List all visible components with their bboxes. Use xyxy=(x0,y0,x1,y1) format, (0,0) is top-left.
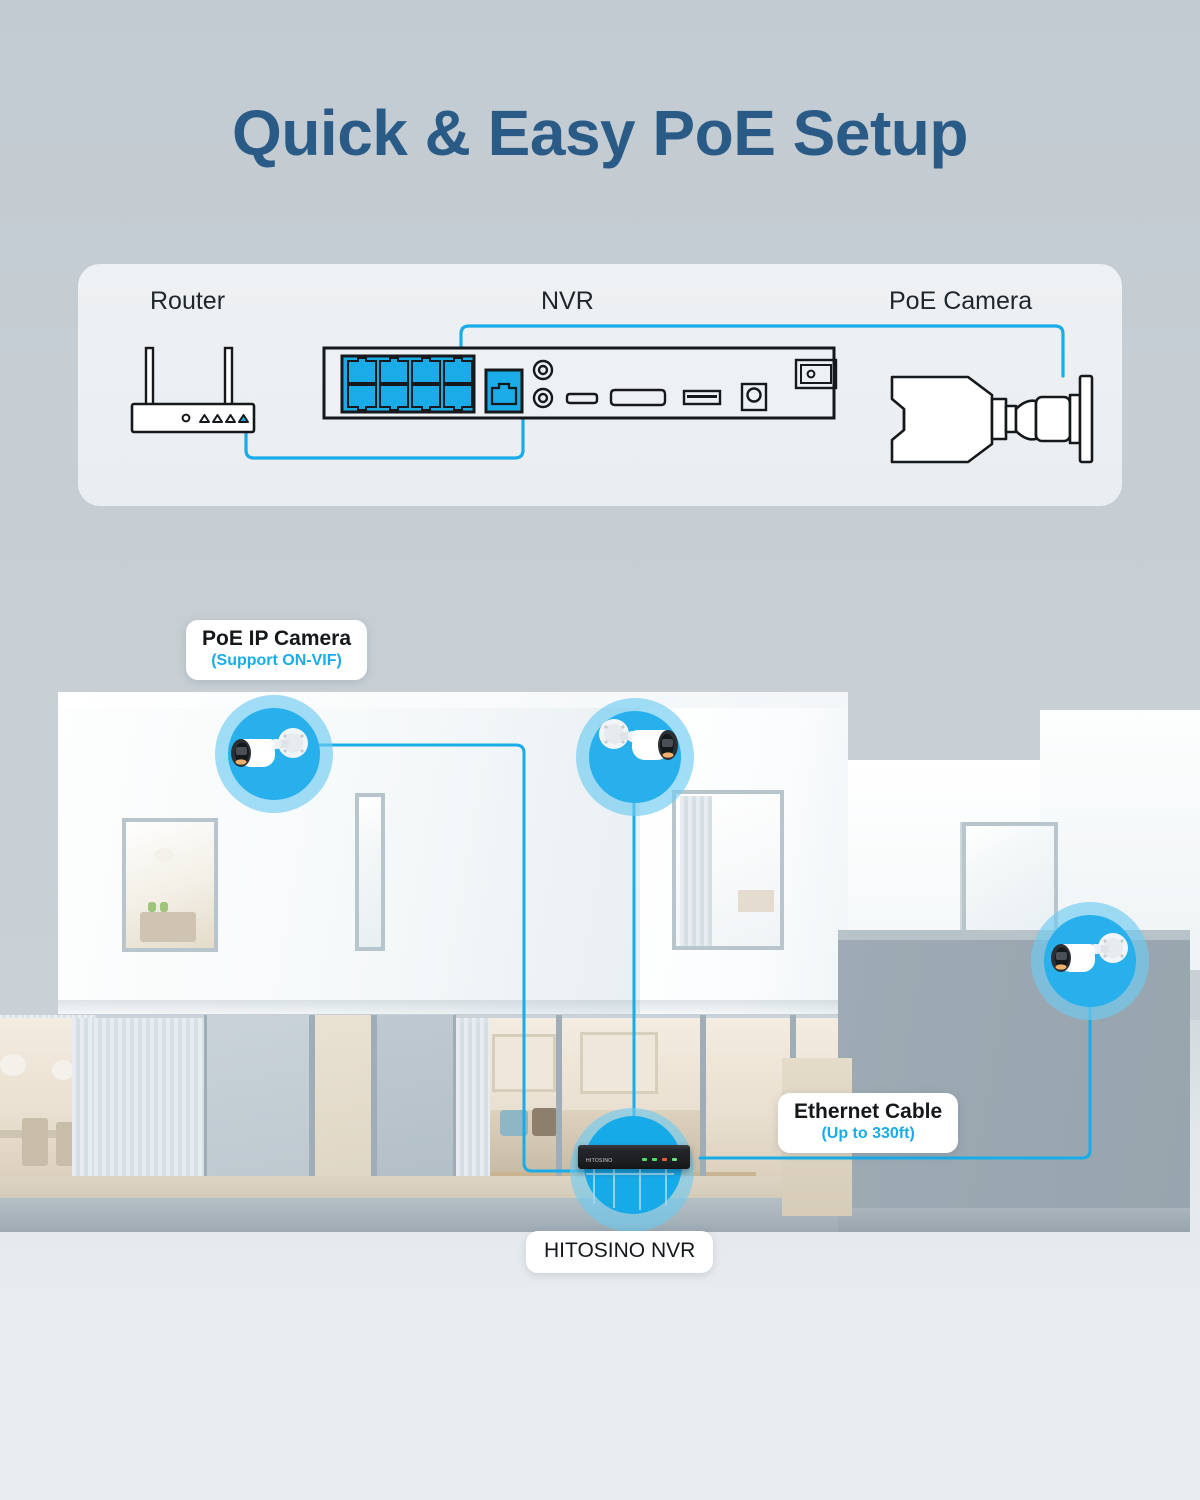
pendant-lamp-2 xyxy=(52,1060,74,1080)
glass-door-4 xyxy=(556,1015,562,1200)
connection-diagram xyxy=(78,264,1122,506)
nvr-led-net xyxy=(662,1158,667,1161)
bullet-camera-icon xyxy=(215,695,333,813)
camera-front-right[interactable] xyxy=(576,698,694,816)
nvr-led-status xyxy=(672,1158,677,1161)
garage-wall-base xyxy=(838,1208,1190,1232)
nvr-device xyxy=(324,348,836,418)
pillow-blue xyxy=(500,1110,528,1136)
porch-slab xyxy=(0,1198,900,1232)
curtain-mid xyxy=(456,1018,490,1196)
pillow-brown xyxy=(532,1108,558,1136)
router-device xyxy=(132,348,254,432)
callout-subtitle: (Up to 330ft) xyxy=(794,1124,942,1144)
hitosino-nvr-device[interactable]: HITOSINO xyxy=(570,1108,712,1228)
window-upper-2 xyxy=(355,793,385,951)
wall-art-2 xyxy=(580,1032,658,1094)
callout-title: HITOSINO NVR xyxy=(544,1239,695,1263)
poe-camera-device xyxy=(892,376,1092,462)
dining-chair-1 xyxy=(22,1118,48,1166)
callout-ethernet-cable: Ethernet Cable (Up to 330ft) xyxy=(778,1093,958,1153)
poe-setup-infographic: Quick & Easy PoE Setup Router NVR PoE Ca… xyxy=(0,0,1200,1500)
curtain-panel-wide xyxy=(94,1018,204,1196)
house-roof xyxy=(58,692,848,708)
callout-subtitle: (Support ON-VIF) xyxy=(202,651,351,671)
camera-front-left[interactable] xyxy=(215,695,333,813)
glass-door-1 xyxy=(204,1015,312,1200)
glass-door-2 xyxy=(312,1015,374,1200)
glass-door-3 xyxy=(374,1015,456,1200)
callout-poe-ip-camera: PoE IP Camera (Support ON-VIF) xyxy=(186,620,367,680)
nvr-chassis: HITOSINO xyxy=(578,1145,690,1169)
pendant-lamp-1 xyxy=(0,1054,26,1076)
window-upper-1 xyxy=(122,818,218,952)
bullet-camera-icon xyxy=(1031,902,1149,1020)
callout-title: PoE IP Camera xyxy=(202,627,351,651)
bullet-camera-icon xyxy=(576,698,694,816)
nvr-led-power xyxy=(642,1158,647,1161)
camera-side-right[interactable] xyxy=(1031,902,1149,1020)
nvr-brand-text: HITOSINO xyxy=(586,1158,612,1164)
page-title: Quick & Easy PoE Setup xyxy=(0,96,1200,170)
wall-art-1 xyxy=(492,1034,556,1092)
callout-title: Ethernet Cable xyxy=(794,1100,942,1124)
wan-rj45-port xyxy=(486,370,522,412)
callout-hitosino-nvr: HITOSINO NVR xyxy=(526,1231,713,1273)
nvr-led-hdd xyxy=(652,1158,657,1161)
